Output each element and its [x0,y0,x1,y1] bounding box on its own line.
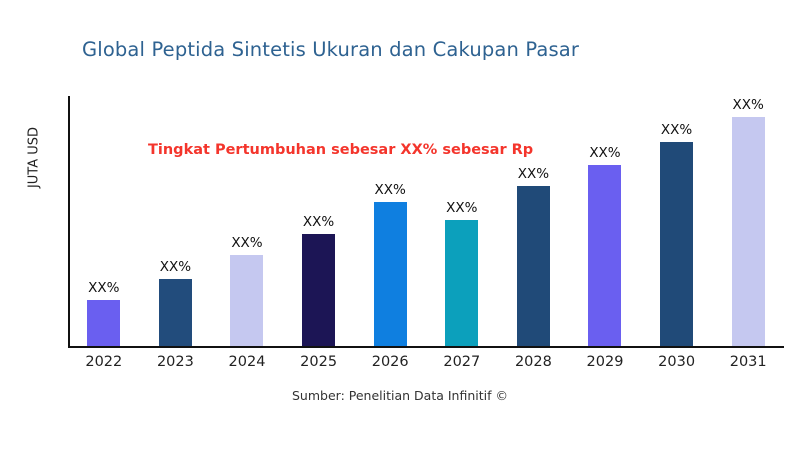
bar-value-label: XX% [139,259,211,275]
x-tick-2023: 2023 [140,354,212,370]
bar[interactable] [517,186,550,346]
bar[interactable] [230,255,263,346]
bar-value-label: XX% [497,166,569,182]
x-tick-2022: 2022 [68,354,140,370]
bar[interactable] [588,165,621,346]
bar-group: XX% [140,96,212,346]
bar-group: XX% [498,96,570,346]
x-axis-spine [68,346,784,348]
bar-value-label: XX% [283,214,355,230]
chart-title: Global Peptida Sintetis Ukuran dan Cakup… [82,38,579,61]
bar-group: XX% [426,96,498,346]
x-tick-2029: 2029 [569,354,641,370]
x-tick-2025: 2025 [283,354,355,370]
bar-value-label: XX% [712,97,784,113]
bar-value-label: XX% [211,235,283,251]
bar[interactable] [159,279,192,347]
bar[interactable] [445,220,478,346]
y-axis-label: JUTA USD [27,98,42,218]
bar-group: XX% [712,96,784,346]
bar-value-label: XX% [569,145,641,161]
bar-group: XX% [641,96,713,346]
bar[interactable] [302,234,335,347]
bar[interactable] [374,202,407,346]
x-tick-2024: 2024 [211,354,283,370]
x-tick-2027: 2027 [426,354,498,370]
bar-group: XX% [68,96,140,346]
bar-chart: Global Peptida Sintetis Ukuran dan Cakup… [0,0,800,450]
x-tick-2026: 2026 [354,354,426,370]
x-tick-2031: 2031 [712,354,784,370]
bar-group: XX% [211,96,283,346]
bar[interactable] [660,142,693,346]
bar-group: XX% [354,96,426,346]
bar-value-label: XX% [641,122,713,138]
x-tick-2028: 2028 [498,354,570,370]
bar-value-label: XX% [426,200,498,216]
bar-value-label: XX% [68,280,140,296]
bar-group: XX% [283,96,355,346]
source-caption: Sumber: Penelitian Data Infinitif © [0,388,800,403]
plot-area: XX%XX%XX%XX%XX%XX%XX%XX%XX%XX% 202220232… [68,96,784,348]
growth-rate-annotation: Tingkat Pertumbuhan sebesar XX% sebesar … [148,142,533,158]
bar[interactable] [87,300,120,346]
bar[interactable] [732,117,765,346]
x-tick-2030: 2030 [641,354,713,370]
bar-value-label: XX% [354,182,426,198]
bar-group: XX% [569,96,641,346]
